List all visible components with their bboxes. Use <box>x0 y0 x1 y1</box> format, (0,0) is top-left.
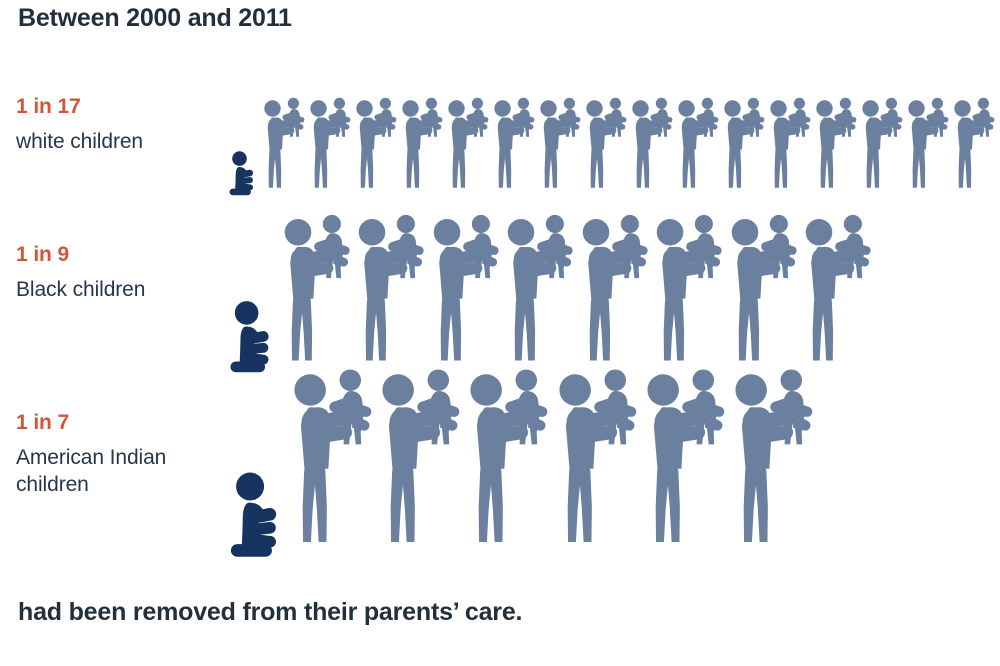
group-label: American Indian children <box>16 445 236 498</box>
pictogram-adult-carrying-child-icon <box>643 366 731 558</box>
pictogram-adult-carrying-child-icon <box>504 212 579 374</box>
pictogram-child-highlight-icon <box>228 150 258 196</box>
pictogram-row-black-children: 1 in 9 Black children <box>0 222 1000 374</box>
pictogram-adult-carrying-child-icon <box>952 96 998 196</box>
pictogram-child-highlight-icon <box>228 299 277 374</box>
pictogram-adult-carrying-child-icon <box>555 366 643 558</box>
pictogram-adult-carrying-child-icon <box>722 96 768 196</box>
pictogram-adult-carrying-child-icon <box>768 96 814 196</box>
infographic-root: Between 2000 and 2011 1 in 17 white chil… <box>0 0 1000 666</box>
pictogram-adult-carrying-child-icon <box>466 366 554 558</box>
pictogram-row-white-children: 1 in 17 white children <box>0 78 1000 196</box>
pictogram-adult-carrying-child-icon <box>906 96 952 196</box>
ratio-label: 1 in 7 <box>16 412 236 434</box>
pictogram-adult-carrying-child-icon <box>579 212 654 374</box>
page-caption: had been removed from their parents’ car… <box>18 598 522 627</box>
pictogram-strip-american-indian-children <box>228 390 819 558</box>
row-label-black-children: 1 in 9 Black children <box>16 244 236 304</box>
pictogram-adult-carrying-child-icon <box>584 96 630 196</box>
pictogram-adult-carrying-child-icon <box>731 366 819 558</box>
pictogram-adult-carrying-child-icon <box>308 96 354 196</box>
row-label-american-indian-children: 1 in 7 American Indian children <box>16 412 236 498</box>
pictogram-adult-carrying-child-icon <box>355 212 430 374</box>
pictogram-adult-carrying-child-icon <box>728 212 803 374</box>
pictogram-adult-carrying-child-icon <box>446 96 492 196</box>
pictogram-adult-carrying-child-icon <box>400 96 446 196</box>
pictogram-adult-carrying-child-icon <box>653 212 728 374</box>
pictogram-adult-carrying-child-icon <box>814 96 860 196</box>
pictogram-adult-carrying-child-icon <box>262 96 308 196</box>
ratio-label: 1 in 9 <box>16 244 236 266</box>
pictogram-adult-carrying-child-icon <box>378 366 466 558</box>
pictogram-row-american-indian-children: 1 in 7 American Indian children <box>0 390 1000 558</box>
group-label: white children <box>16 129 236 155</box>
ratio-label: 1 in 17 <box>16 96 236 118</box>
row-label-white-children: 1 in 17 white children <box>16 96 236 156</box>
pictogram-adult-carrying-child-icon <box>492 96 538 196</box>
pictogram-adult-carrying-child-icon <box>860 96 906 196</box>
pictogram-strip-white-children <box>228 78 998 196</box>
pictogram-adult-carrying-child-icon <box>538 96 584 196</box>
pictogram-child-highlight-icon <box>228 470 286 558</box>
pictogram-adult-carrying-child-icon <box>430 212 505 374</box>
page-title: Between 2000 and 2011 <box>18 4 292 33</box>
pictogram-adult-carrying-child-icon <box>354 96 400 196</box>
group-label: Black children <box>16 277 236 303</box>
pictogram-adult-carrying-child-icon <box>676 96 722 196</box>
pictogram-adult-carrying-child-icon <box>630 96 676 196</box>
pictogram-adult-carrying-child-icon <box>290 366 378 558</box>
pictogram-strip-black-children <box>228 222 877 374</box>
pictogram-adult-carrying-child-icon <box>281 212 356 374</box>
pictogram-adult-carrying-child-icon <box>802 212 877 374</box>
